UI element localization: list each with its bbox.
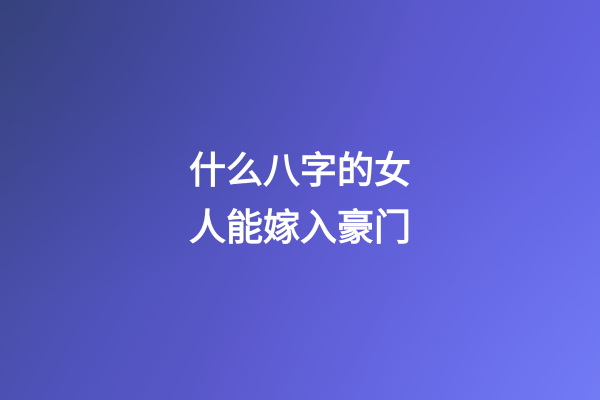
headline-line-1: 什么八字的女 <box>180 142 420 199</box>
banner-canvas: 什么八字的女 人能嫁入豪门 <box>0 0 600 400</box>
headline-line-2: 人能嫁入豪门 <box>180 199 420 256</box>
banner-headline: 什么八字的女 人能嫁入豪门 <box>180 142 420 256</box>
